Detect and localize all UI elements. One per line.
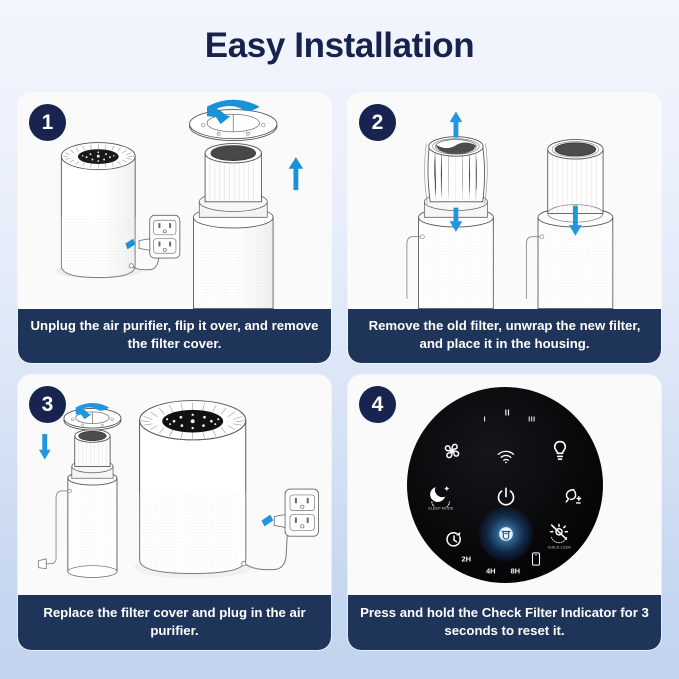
step-card-2: 2 <box>348 93 661 363</box>
step-number-badge-4: 4 <box>359 386 396 423</box>
purifier-upright-large <box>134 401 252 579</box>
step-caption-4: Press and hold the Check Filter Indicato… <box>348 595 661 650</box>
wall-outlet <box>139 215 180 258</box>
child-lock-icon[interactable]: CHILD LOCK <box>548 522 572 549</box>
step-number-badge-2: 2 <box>359 104 396 141</box>
unplug-and-remove-cover-illustration: 1 <box>18 93 331 309</box>
step-number-badge-3: 3 <box>29 386 66 423</box>
up-arrow-icon <box>289 157 304 190</box>
step-card-4: 4 I II III <box>348 375 661 650</box>
wall-outlet <box>274 489 318 536</box>
steps-grid: 1 <box>18 93 661 650</box>
filter-cover-lid <box>64 408 121 430</box>
child-lock-label: CHILD LOCK <box>548 545 572 549</box>
fan-speed-tick-3: III <box>528 417 535 424</box>
ionizer-icon[interactable] <box>561 487 582 507</box>
wifi-icon[interactable] <box>497 450 516 465</box>
page-header: Easy Installation <box>0 0 679 92</box>
purifier-upright <box>56 143 141 279</box>
replace-cover-and-plug-in-illustration: 3 <box>18 375 331 595</box>
step-card-1: 1 <box>18 93 331 363</box>
power-icon[interactable] <box>495 486 517 508</box>
swap-filter-illustration: 2 <box>348 93 661 309</box>
purifier-flipped <box>193 144 273 309</box>
fan-speed-tick-2: II <box>505 409 510 418</box>
sleep-mode-label: SLEEP MODE <box>428 507 453 511</box>
step-caption-1: Unplug the air purifier, flip it over, a… <box>18 309 331 363</box>
purifier-small-flipped <box>68 430 117 578</box>
fan-icon[interactable] <box>441 440 463 462</box>
filter-cover-lid <box>190 110 277 141</box>
timer-label-8h: 8H <box>510 567 520 576</box>
step-caption-2: Remove the old filter, unwrap the new fi… <box>348 309 661 363</box>
down-arrow-icon <box>39 434 51 460</box>
step-card-3: 3 <box>18 375 331 650</box>
timer-label-4h: 4H <box>486 567 496 576</box>
check-filter-icon[interactable] <box>498 526 514 542</box>
timer-icon[interactable] <box>444 530 463 549</box>
step-number-badge-1: 1 <box>29 104 66 141</box>
plug-in-arrow-icon <box>261 515 273 527</box>
sleep-moon-icon[interactable]: SLEEP MODE <box>428 482 453 511</box>
control-panel-disc[interactable]: I II III <box>407 387 603 583</box>
timer-label-2h: 2H <box>461 555 471 564</box>
page-title: Easy Installation <box>205 26 474 66</box>
phone-icon[interactable] <box>531 552 540 566</box>
step-caption-3: Replace the filter cover and plug in the… <box>18 595 331 650</box>
light-bulb-icon[interactable] <box>552 440 568 462</box>
fan-speed-tick-1: I <box>484 417 486 424</box>
control-panel-illustration: 4 I II III <box>348 375 661 595</box>
up-arrow-icon <box>450 111 463 137</box>
